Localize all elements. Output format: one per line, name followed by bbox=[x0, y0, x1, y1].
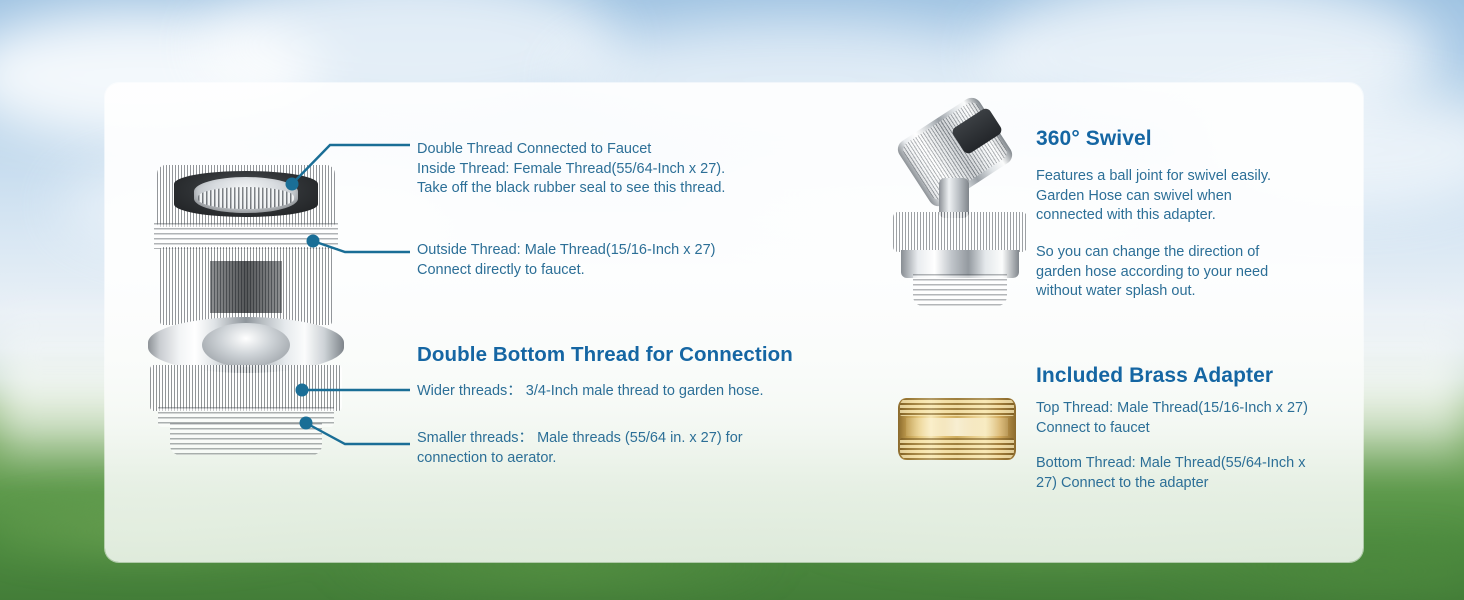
ball-highlight bbox=[202, 323, 290, 367]
swivel-bottom-thread bbox=[913, 274, 1007, 306]
barrel-shadow bbox=[210, 261, 282, 313]
callout-inside-thread: Double Thread Connected to Faucet Inside… bbox=[417, 140, 847, 199]
aerator-slots bbox=[198, 187, 294, 209]
callout-outside-thread: Outside Thread: Male Thread(15/16-Inch x… bbox=[417, 241, 837, 280]
brass-highlight bbox=[906, 418, 1008, 436]
brass-paragraph-1: Top Thread: Male Thread(15/16-Inch x 27)… bbox=[1036, 399, 1356, 438]
upper-thread-band bbox=[154, 223, 338, 249]
brass-top-thread bbox=[900, 398, 1014, 416]
swivel-paragraph-1: Features a ball joint for swivel easily.… bbox=[1036, 167, 1336, 226]
heading-brass-adapter: Included Brass Adapter bbox=[1036, 364, 1273, 388]
callout-wider-threads: Wider threads： 3/4-Inch male thread to g… bbox=[417, 382, 837, 402]
brass-paragraph-2: Bottom Thread: Male Thread(55/64-Inch x … bbox=[1036, 454, 1351, 493]
swivel-base-knurl bbox=[893, 212, 1027, 252]
callout-smaller-threads: Smaller threads： Male threads (55/64 in.… bbox=[417, 429, 817, 468]
product-image-swivel-adapter bbox=[893, 112, 1027, 308]
heading-double-bottom-thread: Double Bottom Thread for Connection bbox=[417, 343, 793, 367]
infographic-stage: Double Thread Connected to Faucet Inside… bbox=[0, 0, 1464, 600]
product-image-main-adapter bbox=[148, 165, 344, 455]
product-image-brass-adapter bbox=[898, 390, 1016, 468]
heading-swivel: 360° Swivel bbox=[1036, 127, 1152, 151]
bottom-thread-lower bbox=[170, 423, 322, 455]
lower-knurled-band bbox=[150, 365, 342, 411]
brass-bottom-thread bbox=[900, 438, 1014, 460]
swivel-paragraph-2: So you can change the direction of garde… bbox=[1036, 243, 1341, 302]
